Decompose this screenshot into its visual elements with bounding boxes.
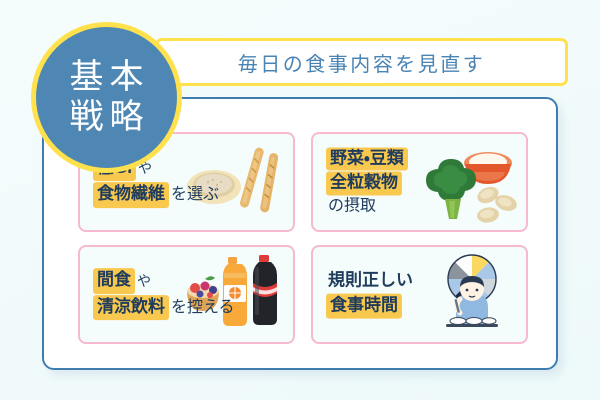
infographic-canvas: 毎日の食事内容を見直す 低GIや 食物繊維を選ぶ	[0, 0, 600, 400]
header-ribbon: 毎日の食事内容を見直す	[155, 38, 568, 86]
badge-line-1: 基本	[64, 58, 150, 97]
person-eating-with-clock-art	[416, 251, 520, 337]
baguette-icon	[239, 146, 265, 208]
highlight-soft-drinks: 清涼飲料	[93, 295, 169, 320]
card-suffix: を控える	[169, 297, 237, 318]
highlight-vegetables-beans: 野菜・豆類	[326, 147, 408, 171]
highlight-whole-grains: 全粒穀物	[326, 172, 402, 196]
card-line-2: 全粒穀物	[326, 172, 408, 196]
highlight-snacks: 間食	[93, 268, 135, 293]
card-line-1: 野菜・豆類	[326, 147, 408, 171]
card-line-2: 食物繊維を選ぶ	[93, 182, 221, 207]
card-line-3: の摂取	[326, 197, 408, 217]
card-particle: や	[135, 272, 153, 290]
card-suffix: を選ぶ	[169, 184, 221, 205]
strategy-card-regular-meal-times[interactable]: 規則正しい 食事時間	[311, 245, 528, 345]
strategy-card-limit-snacks-soft-drinks[interactable]: 間食や 清涼飲料を控える	[78, 245, 295, 345]
card-suffix: の摂取	[326, 197, 378, 217]
card-line-1: 規則正しい	[326, 270, 415, 292]
card-line-2: 清涼飲料を控える	[93, 295, 237, 320]
broccoli-rice-soybeans-art	[416, 139, 520, 225]
basic-strategy-badge: 基本 戦略	[31, 22, 182, 173]
page-title: 毎日の食事内容を見直す	[238, 48, 486, 77]
card-text: 野菜・豆類 全粒穀物 の摂取	[326, 146, 408, 217]
card-text: 規則正しい 食事時間	[326, 269, 415, 320]
card-prefix: 規則正しい	[326, 270, 415, 292]
strategy-card-vegetables-beans-wholegrain[interactable]: 野菜・豆類 全粒穀物 の摂取	[311, 132, 528, 232]
card-line-2: 食事時間	[326, 293, 415, 318]
highlight-meal-times: 食事時間	[326, 293, 402, 318]
strategy-card-grid: 低GIや 食物繊維を選ぶ	[78, 132, 528, 344]
cola-bottle-icon	[253, 255, 277, 325]
highlight-dietary-fiber: 食物繊維	[93, 182, 169, 207]
card-text: 間食や 清涼飲料を控える	[93, 267, 237, 321]
soybean-icon	[475, 184, 519, 224]
badge-line-2: 戦略	[64, 98, 150, 137]
card-line-1: 間食や	[93, 268, 237, 293]
